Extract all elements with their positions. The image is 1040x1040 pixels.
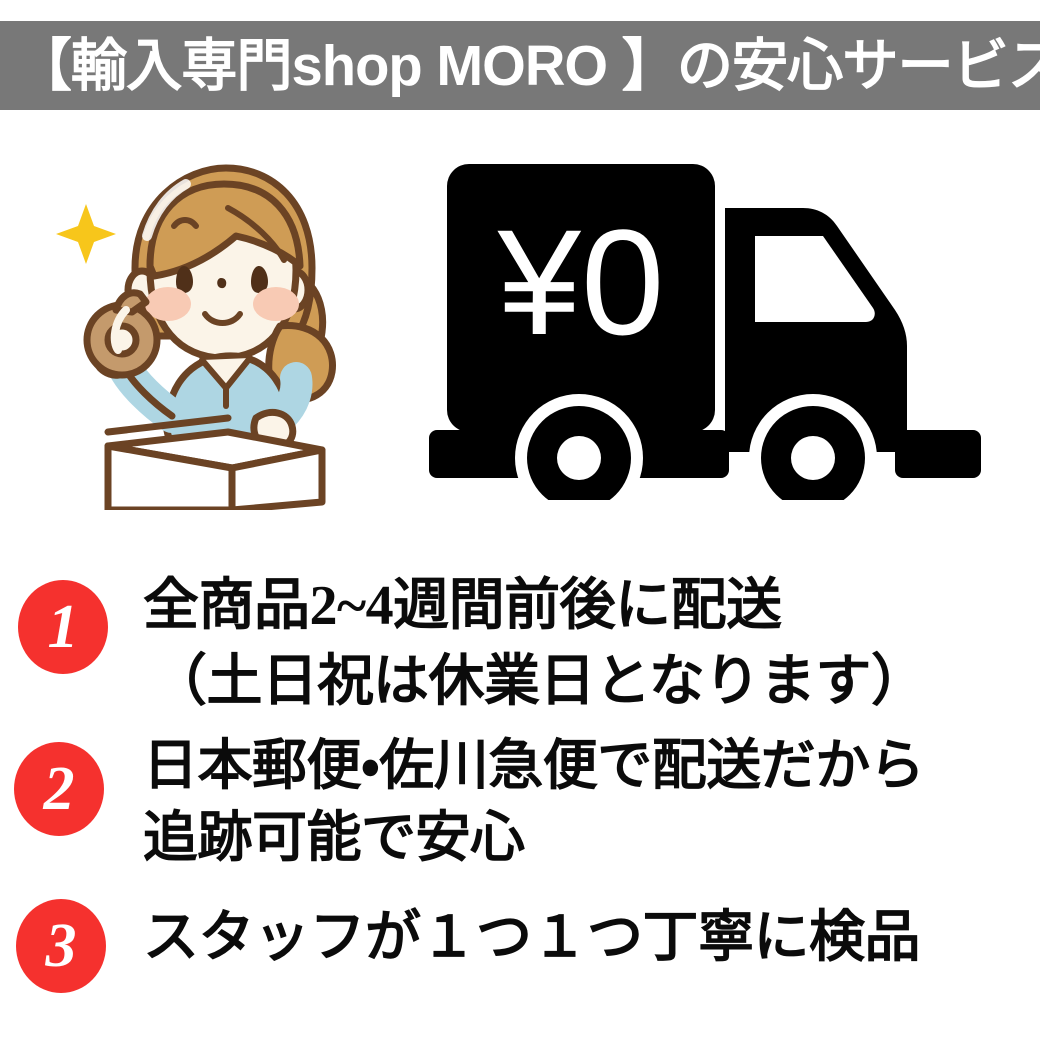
truck-cargo-label: ¥0 bbox=[497, 198, 665, 366]
service-badge-2: 2 bbox=[14, 742, 104, 836]
service-item-1-line-2: （土日祝は休業日となります） bbox=[143, 644, 1033, 720]
service-item-1: 1 全商品2~4週間前後に配送 （土日祝は休業日となります） bbox=[0, 562, 1040, 722]
service-item-2-line-1: 日本郵便・佐川急便で配送だから bbox=[143, 730, 1033, 802]
illustration-row: ¥0 bbox=[0, 120, 1040, 530]
truck-bumper bbox=[895, 430, 981, 478]
header-band: 【輸入専門shop MORO 】の安心サービス bbox=[0, 21, 1040, 110]
promo-banner: 【輸入専門shop MORO 】の安心サービス bbox=[0, 0, 1040, 1040]
service-badge-3: 3 bbox=[16, 899, 106, 993]
page-title: 【輸入専門shop MORO 】の安心サービス bbox=[0, 35, 1040, 97]
service-item-2: 2 日本郵便・佐川急便で配送だから 追跡可能で安心 bbox=[0, 728, 1040, 883]
service-item-3: 3 スタッフが１つ１つ丁寧に検品 bbox=[0, 893, 1040, 1013]
service-text-3: スタッフが１つ１つ丁寧に検品 bbox=[143, 901, 1033, 975]
service-text-1: 全商品2~4週間前後に配送 （土日祝は休業日となります） bbox=[143, 568, 1033, 720]
sparkle-icon bbox=[56, 204, 116, 264]
woman-packing-box-illustration bbox=[50, 150, 400, 510]
service-badge-1: 1 bbox=[18, 580, 108, 674]
service-item-2-line-2: 追跡可能で安心 bbox=[143, 802, 1033, 874]
service-item-3-line-1: スタッフが１つ１つ丁寧に検品 bbox=[143, 901, 1033, 975]
service-list: 1 全商品2~4週間前後に配送 （土日祝は休業日となります） 2 日本郵便・佐川… bbox=[0, 548, 1040, 1040]
service-item-1-line-1: 全商品2~4週間前後に配送 bbox=[143, 568, 1033, 644]
service-text-2: 日本郵便・佐川急便で配送だから 追跡可能で安心 bbox=[143, 730, 1033, 874]
free-shipping-truck-icon: ¥0 bbox=[425, 140, 995, 500]
